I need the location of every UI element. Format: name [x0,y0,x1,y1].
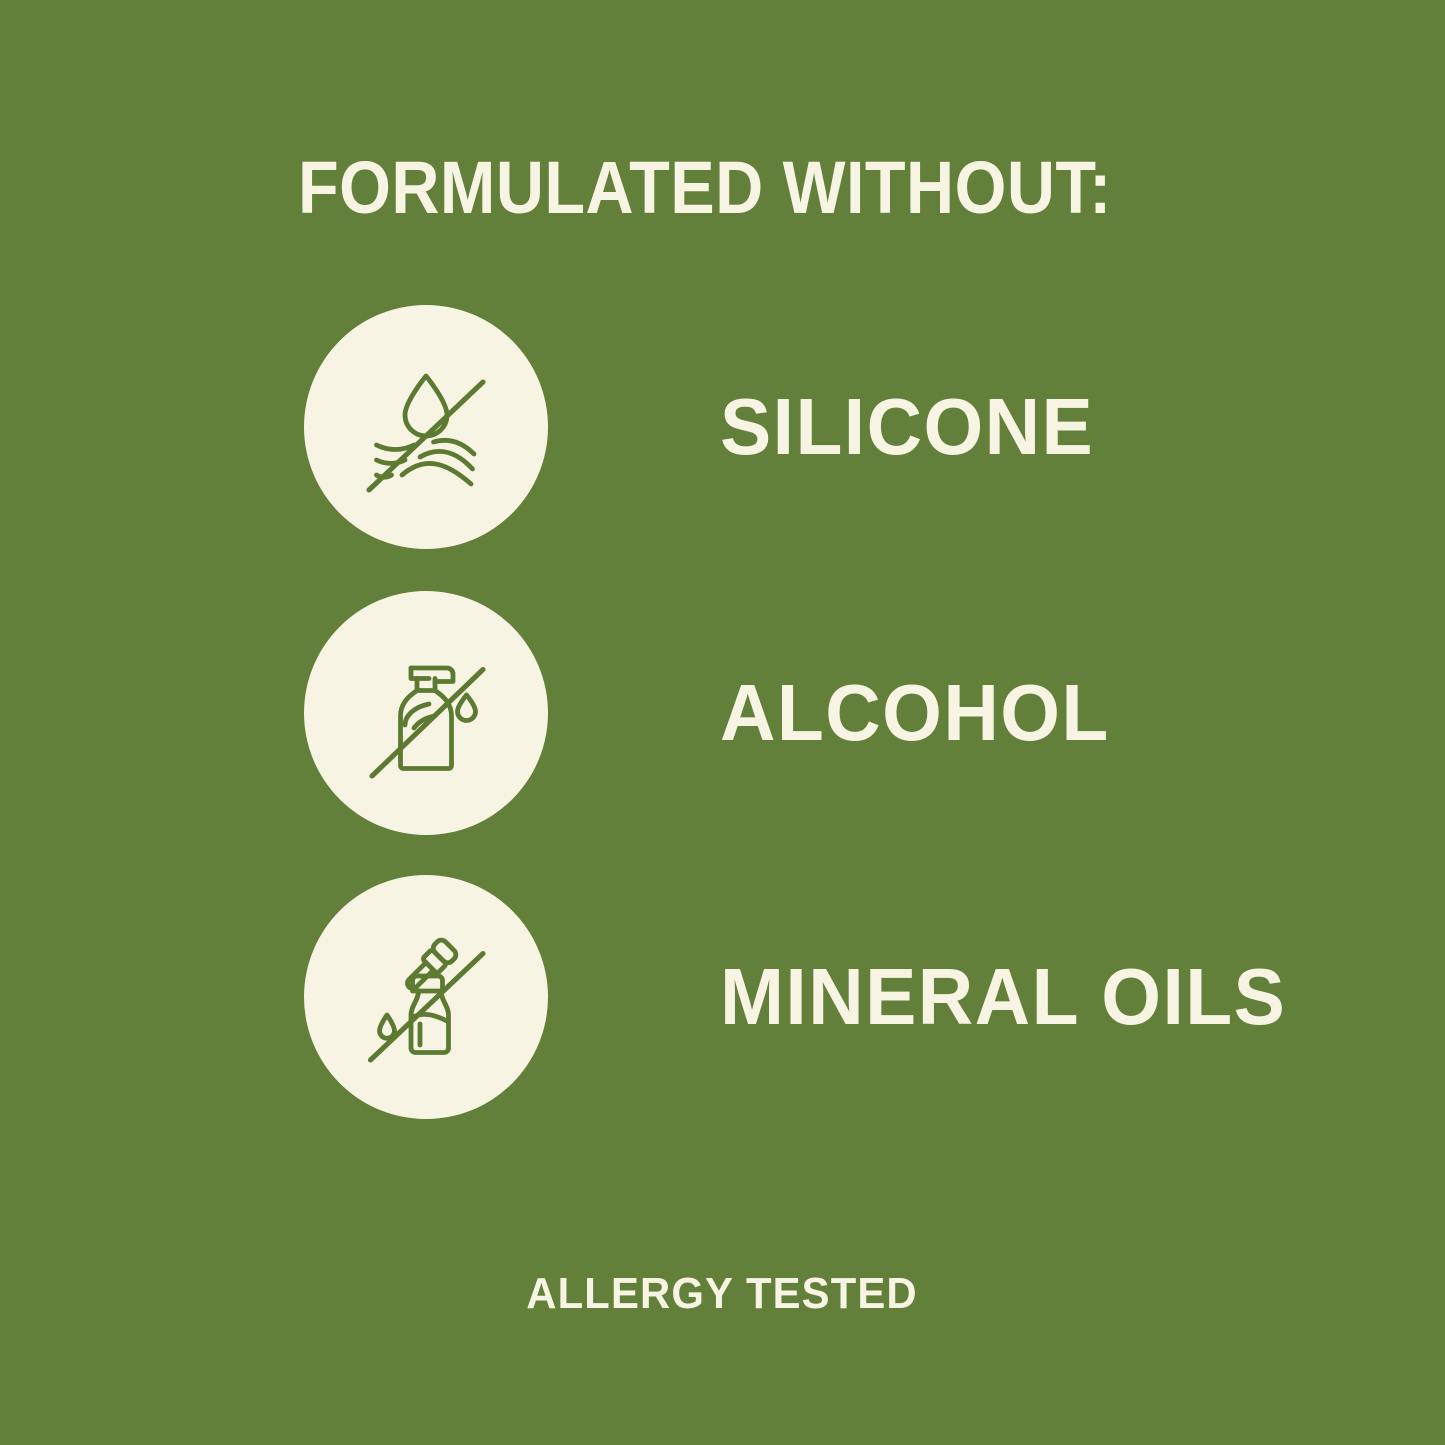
list-item: ALCOHOL [0,591,1445,835]
icon-badge-silicone [304,305,548,549]
ingredient-label-silicone: SILICONE [720,383,1094,471]
list-item: MINERAL OILS [0,875,1445,1119]
ingredient-label-mineral-oils: MINERAL OILS [720,953,1286,1041]
no-mineral-oils-icon [351,922,501,1072]
ingredient-label-alcohol: ALCOHOL [720,669,1110,757]
list-item: SILICONE [0,305,1445,549]
no-silicone-icon [351,352,501,502]
icon-badge-mineral-oils [304,875,548,1119]
page-title: FORMULATED WITHOUT: [298,146,1112,230]
allergy-tested-text: ALLERGY TESTED [527,1268,918,1320]
allergy-tested-note: ALLERGY TESTED [0,1268,1445,1320]
icon-badge-alcohol [304,591,548,835]
no-alcohol-icon [351,638,501,788]
formulated-without-poster: FORMULATED WITHOUT: [0,0,1445,1445]
